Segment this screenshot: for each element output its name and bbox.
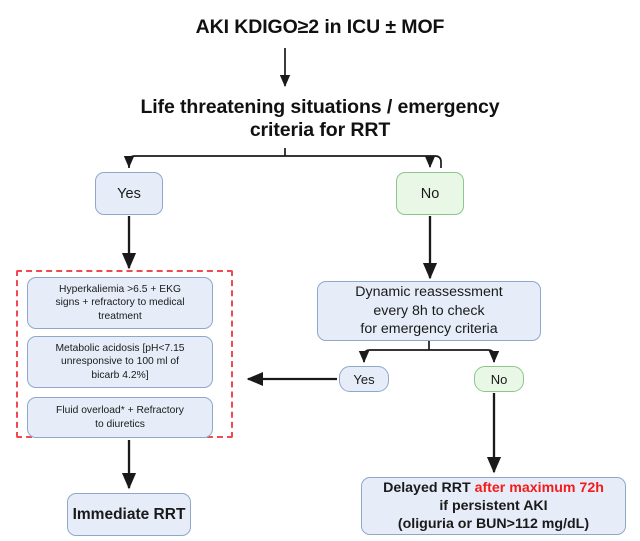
delayed-rrt-line3: (oliguria or BUN>112 mg/dL) — [383, 515, 604, 533]
criterion-fluid-overload-line2: to diuretics — [56, 418, 184, 432]
delayed-rrt-line2: if persistent AKI — [383, 497, 604, 515]
edge-dynamic-split — [364, 341, 494, 362]
flow-title: AKI KDIGO≥2 in ICU ± MOF — [120, 12, 520, 42]
dynamic-reassessment-line2: every 8h to check — [355, 302, 502, 321]
criterion-metabolic-acidosis-line1: Metabolic acidosis [pH<7.15 — [55, 342, 184, 356]
criterion-fluid-overload-line1: Fluid overload* + Refractory — [56, 404, 184, 418]
delayed-rrt-node[interactable]: Delayed RRT after maximum 72h if persist… — [361, 477, 626, 535]
flowchart-canvas: AKI KDIGO≥2 in ICU ± MOF Life threatenin… — [0, 0, 640, 541]
decision-question-line1: Life threatening situations / emergency — [140, 96, 499, 119]
immediate-rrt-node[interactable]: Immediate RRT — [67, 493, 191, 536]
criterion-hyperkaliemia-line1: Hyperkaliemia >6.5 + EKG — [55, 283, 184, 297]
criterion-metabolic-acidosis-line3: bicarb 4.2%] — [55, 369, 184, 383]
criterion-hyperkaliemia-line3: treatment — [55, 310, 184, 324]
decision-question: Life threatening situations / emergency … — [75, 93, 565, 145]
criterion-hyperkaliemia[interactable]: Hyperkaliemia >6.5 + EKG signs + refract… — [27, 277, 213, 329]
edge-question-split — [129, 148, 441, 168]
branch2-no-node[interactable]: No — [474, 366, 524, 392]
delayed-rrt-line1-black: Delayed RRT — [383, 480, 474, 496]
dynamic-reassessment-line3: for emergency criteria — [355, 320, 502, 339]
branch2-yes-node[interactable]: Yes — [339, 366, 389, 392]
branch1-no-node[interactable]: No — [396, 172, 464, 215]
dynamic-reassessment-node[interactable]: Dynamic reassessment every 8h to check f… — [317, 281, 541, 341]
branch1-yes-node[interactable]: Yes — [95, 172, 163, 215]
delayed-rrt-line1-red: after maximum 72h — [475, 480, 604, 496]
dynamic-reassessment-line1: Dynamic reassessment — [355, 283, 502, 302]
criterion-metabolic-acidosis[interactable]: Metabolic acidosis [pH<7.15 unresponsive… — [27, 336, 213, 388]
criterion-hyperkaliemia-line2: signs + refractory to medical — [55, 296, 184, 310]
delayed-rrt-line1: Delayed RRT after maximum 72h — [383, 479, 604, 497]
criterion-metabolic-acidosis-line2: unresponsive to 100 ml of — [55, 355, 184, 369]
decision-question-line2: criteria for RRT — [140, 119, 499, 142]
criterion-fluid-overload[interactable]: Fluid overload* + Refractory to diuretic… — [27, 397, 213, 438]
